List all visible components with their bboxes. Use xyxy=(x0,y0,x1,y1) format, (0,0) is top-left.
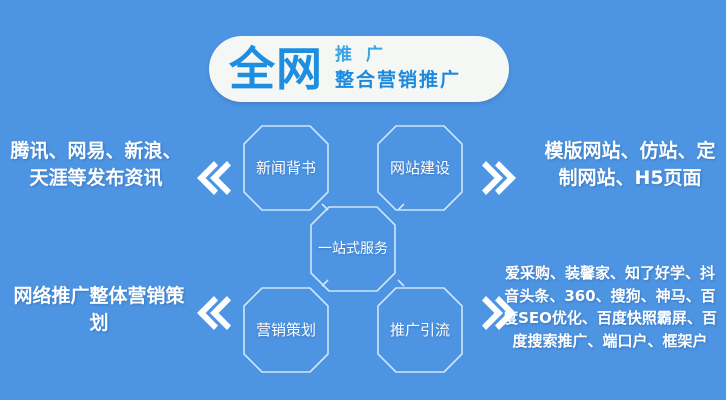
octagon-diagram: 新闻背书 网站建设 一站式服务 营销策划 推广引流 xyxy=(232,110,494,380)
double-chevron-left-icon xyxy=(188,156,232,200)
connector-center-promotion xyxy=(398,280,404,286)
node-label-website: 网站建设 xyxy=(385,159,455,178)
poster-canvas: 全网 推 广 整合营销推广 腾讯、网易、新浪、天涯等发布资讯 网络推广整体营销策… xyxy=(0,0,726,400)
node-label-center: 一站式服务 xyxy=(318,240,388,259)
double-chevron-left-icon xyxy=(188,291,232,335)
node-label-promotion: 推广引流 xyxy=(385,321,455,340)
banner-main-title: 全网 xyxy=(229,46,323,92)
title-banner: 全网 推 广 整合营销推广 xyxy=(209,36,509,102)
node-label-marketing: 营销策划 xyxy=(251,321,321,340)
banner-subtitle-small: 推 广 xyxy=(335,46,461,66)
side-label-left-top: 腾讯、网易、新浪、天涯等发布资讯 xyxy=(8,138,184,192)
connector-center-website xyxy=(398,204,404,210)
banner-subtitle-large: 整合营销推广 xyxy=(335,69,461,92)
connector-center-news xyxy=(322,204,328,210)
side-label-right-bottom: 爱采购、装馨家、知了好学、抖音头条、360、搜狗、神马、百度SEO优化、百度快照… xyxy=(498,262,722,352)
node-label-news: 新闻背书 xyxy=(251,159,321,178)
side-label-right-top: 模版网站、仿站、定制网站、H5页面 xyxy=(540,138,720,192)
banner-subtitle-group: 推 广 整合营销推广 xyxy=(335,46,461,91)
connector-center-marketing xyxy=(322,280,328,286)
side-label-left-bottom: 网络推广整体营销策划 xyxy=(8,283,190,337)
